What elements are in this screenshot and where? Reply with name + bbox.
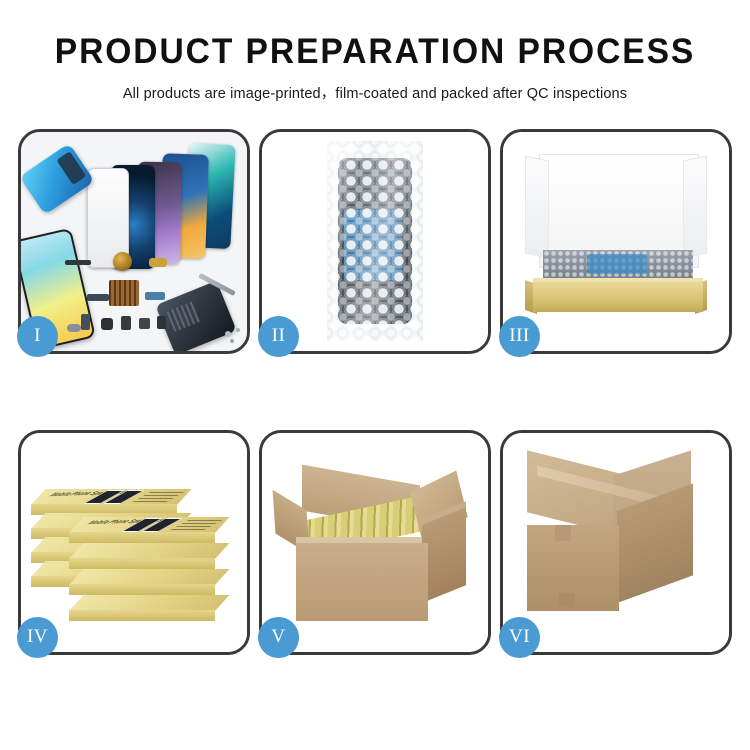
mailer-lid-right bbox=[683, 155, 707, 258]
step-5-image bbox=[262, 433, 488, 652]
retail-box-edge bbox=[69, 532, 215, 543]
retail-box-edge bbox=[69, 584, 215, 595]
retail-box bbox=[69, 595, 215, 619]
step-badge-4: IV bbox=[17, 617, 58, 658]
carton-front-panel bbox=[296, 543, 428, 621]
step-1-image bbox=[21, 132, 247, 351]
box-stack: Mobile Phone Spare Parts bbox=[31, 451, 237, 641]
gold-connector-part bbox=[149, 258, 167, 267]
page-title: PRODUCT PREPARATION PROCESS bbox=[15, 34, 735, 71]
process-step-6: VI bbox=[500, 430, 732, 655]
step-badge-3: III bbox=[499, 316, 540, 357]
step-4-image: Mobile Phone Spare Parts bbox=[21, 433, 247, 652]
retail-box-lid: Mobile Phone Spare Parts bbox=[31, 489, 191, 505]
retail-box: Mobile Phone Spare Parts bbox=[31, 489, 177, 513]
chip-array-part bbox=[109, 280, 139, 306]
step-3-image bbox=[503, 132, 729, 351]
small-part-3 bbox=[121, 316, 131, 330]
carton-side-panel bbox=[422, 507, 466, 603]
mailer-front-panel bbox=[533, 282, 703, 312]
retail-box-lid bbox=[69, 543, 229, 559]
flex-cable-part bbox=[65, 260, 91, 265]
step-badge-2: II bbox=[258, 316, 299, 357]
retail-box bbox=[69, 569, 215, 593]
stacked-boxes-scene: Mobile Phone Spare Parts bbox=[21, 433, 247, 652]
mailer-box-scene bbox=[503, 132, 729, 351]
process-step-grid: I II bbox=[18, 129, 732, 655]
process-step-1: I bbox=[18, 129, 250, 354]
bubble-wrap-bag bbox=[327, 141, 423, 341]
mailer-lid-left bbox=[525, 155, 549, 258]
plastic-sheen bbox=[327, 141, 423, 341]
sim-tray-part bbox=[67, 324, 81, 332]
phone-blue-panel bbox=[21, 143, 95, 215]
step-badge-6: VI bbox=[499, 617, 540, 658]
retail-box-edge bbox=[69, 558, 215, 569]
retail-box-lid bbox=[69, 569, 229, 585]
phone-parts-scene bbox=[21, 132, 247, 351]
carton-tab-lower bbox=[559, 593, 575, 607]
screws-group bbox=[225, 331, 231, 337]
copper-coil-part bbox=[113, 252, 132, 271]
header: PRODUCT PREPARATION PROCESS All products… bbox=[0, 0, 750, 103]
small-part-5 bbox=[157, 316, 166, 329]
process-step-2: II bbox=[259, 129, 491, 354]
process-step-4: Mobile Phone Spare Parts bbox=[18, 430, 250, 655]
process-step-3: III bbox=[500, 129, 732, 354]
step-2-image bbox=[262, 132, 488, 351]
step-6-image bbox=[503, 433, 729, 652]
step-badge-1: I bbox=[17, 316, 58, 357]
small-part-4 bbox=[139, 318, 150, 329]
product-preparation-infographic: PRODUCT PREPARATION PROCESS All products… bbox=[0, 0, 750, 750]
page-subtitle: All products are image-printed，film-coat… bbox=[0, 82, 750, 103]
process-step-5: V bbox=[259, 430, 491, 655]
retail-box-lid: Mobile Phone Spare Parts bbox=[69, 517, 229, 533]
blue-module-part bbox=[145, 292, 165, 300]
small-part-2 bbox=[101, 318, 113, 330]
retail-box-edge bbox=[69, 610, 215, 621]
retail-box bbox=[69, 543, 215, 567]
retail-box-lid bbox=[69, 595, 229, 611]
small-part-1 bbox=[81, 314, 90, 330]
carton-tab-upper bbox=[555, 525, 571, 541]
retail-box: Mobile Phone Spare Parts bbox=[69, 517, 215, 541]
open-carton-scene bbox=[262, 433, 488, 652]
bubble-wrap-scene bbox=[262, 132, 488, 351]
sealed-carton-scene bbox=[503, 433, 729, 652]
bracket-part bbox=[87, 294, 109, 301]
step-badge-5: V bbox=[258, 617, 299, 658]
